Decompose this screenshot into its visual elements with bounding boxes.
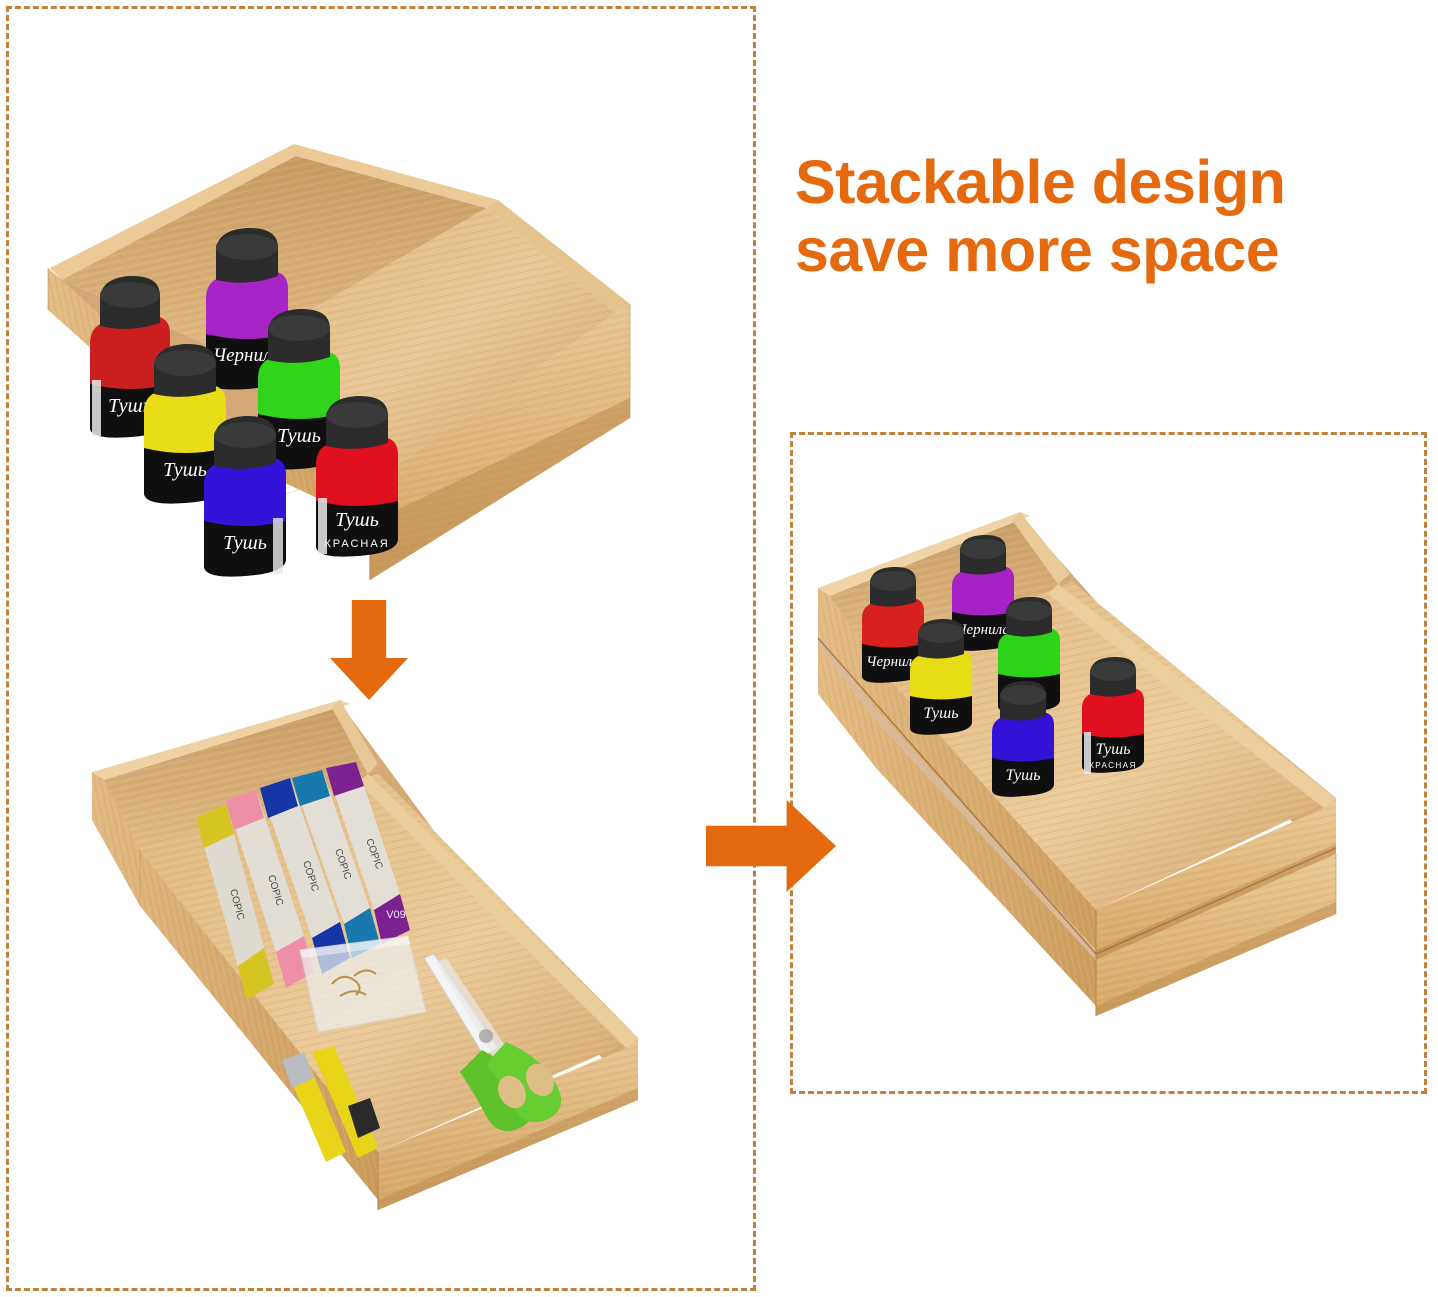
ink-bottle-yellow: Тушь [910,619,972,735]
svg-text:Тушь: Тушь [277,425,321,447]
ink-bottle-blue: Тушь [992,681,1054,797]
svg-text:Тушь: Тушь [335,509,379,531]
svg-text:Чернила: Чернила [956,622,1010,638]
svg-text:Тушь: Тушь [1096,741,1131,758]
svg-text:Тушь: Тушь [223,532,267,554]
svg-text:Тушь: Тушь [1006,767,1041,784]
ink-bottle-red-2: Тушь КРАСНАЯ [316,396,398,557]
ink-bottle-blue: Тушь [204,416,286,577]
svg-text:Тушь: Тушь [163,459,207,481]
svg-text:КРАСНАЯ: КРАСНАЯ [324,538,389,550]
bamboo-drawer-organizer-with-stationery: COPIC COPIC COPIC COPIC [78,700,678,1220]
headline-line-2: save more space [795,216,1425,284]
svg-text:КРАСНАЯ: КРАСНАЯ [1089,761,1137,770]
ink-bottle-red-2: Тушь КРАСНАЯ [1082,657,1144,774]
infographic-canvas: Stackable design save more space [0,0,1438,1297]
svg-text:Тушь: Тушь [924,705,959,722]
headline-line-1: Stackable design [795,148,1425,216]
svg-text:V09: V09 [386,909,406,921]
page-title: Stackable design save more space [795,148,1425,285]
bamboo-drawer-organizer-with-ink: Тушь Чернила Тушь [18,128,658,598]
bamboo-drawer-organizer-stacked-pair: Чернила Чернила Тушь Тушь [800,498,1432,1028]
